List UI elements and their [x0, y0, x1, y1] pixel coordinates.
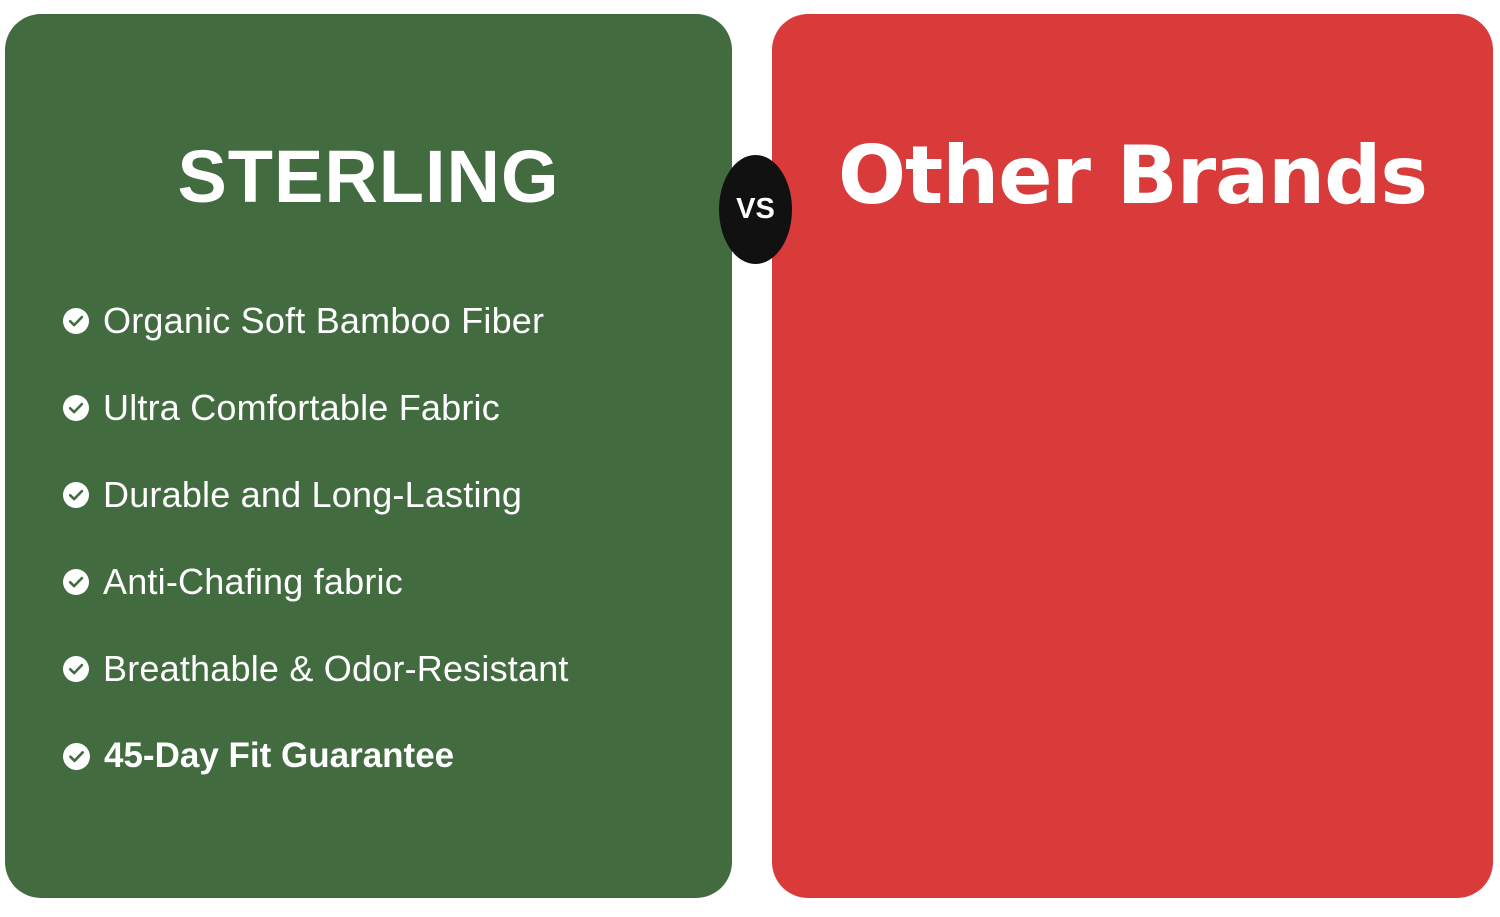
pro-feature-list: Organic Soft Bamboo Fiber Ultra Comforta…	[63, 297, 703, 780]
feature-label: Breathable & Odor-Resistant	[103, 650, 569, 688]
con-comparison-card: Other Brands Toxic Polyester Fabric Unco…	[772, 14, 1493, 898]
check-circle-icon	[63, 395, 89, 421]
con-card-title: Other Brands	[772, 136, 1493, 216]
list-item: Ultra Comfortable Fabric	[63, 384, 703, 432]
feature-label: 45-Day Fit Guarantee	[104, 738, 454, 775]
list-item: Anti-Chafing fabric	[63, 558, 703, 606]
list-item: Breathable & Odor-Resistant	[63, 645, 703, 693]
check-circle-icon	[63, 482, 89, 508]
list-item: Organic Soft Bamboo Fiber	[63, 297, 703, 345]
feature-label: Organic Soft Bamboo Fiber	[103, 302, 544, 340]
versus-label: VS	[736, 195, 775, 224]
check-circle-icon	[63, 743, 90, 770]
check-circle-icon	[63, 569, 89, 595]
check-circle-icon	[63, 308, 89, 334]
feature-label: Durable and Long-Lasting	[103, 476, 522, 514]
list-item: Durable and Long-Lasting	[63, 471, 703, 519]
comparison-infographic: STERLING Organic Soft Bamboo Fiber Ultra…	[0, 0, 1500, 917]
pro-comparison-card: STERLING Organic Soft Bamboo Fiber Ultra…	[5, 14, 732, 898]
check-circle-icon	[63, 656, 89, 682]
feature-label: Ultra Comfortable Fabric	[103, 389, 500, 427]
versus-badge: VS	[719, 155, 792, 264]
list-item: 45-Day Fit Guarantee	[63, 732, 703, 780]
feature-label: Anti-Chafing fabric	[103, 563, 403, 601]
pro-card-title: STERLING	[5, 140, 732, 214]
